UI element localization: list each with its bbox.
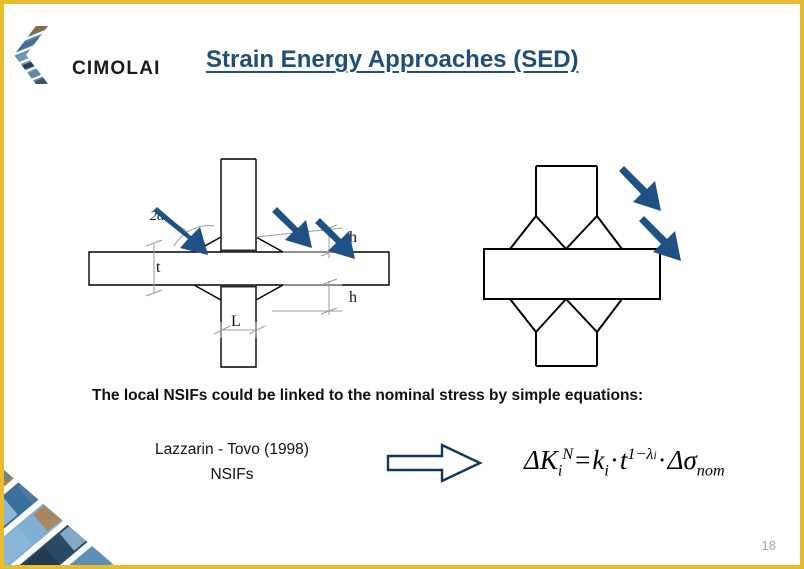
eq-dot-1: · [609, 445, 620, 475]
citation-author: Lazzarin - Tovo (1998) [112, 437, 352, 462]
eq-k: k [592, 445, 604, 475]
nsif-equation: ΔKiN=ki·t1−λi·Δσnom [524, 445, 725, 480]
eq-delta-k: ΔK [524, 445, 558, 475]
eq-delta-sigma: Δσ [668, 445, 697, 475]
eq-t-exponent: 1−λ [627, 445, 653, 463]
label-thickness-t: t [156, 259, 161, 276]
slide-canvas: CIMOLAI Strain Energy Approaches (SED) [0, 0, 804, 569]
page-title: Strain Energy Approaches (SED) [206, 46, 579, 74]
diagram-cruciform-joint-dimensioned: t 2α h h L [84, 154, 414, 379]
load-arrows-right [619, 166, 681, 261]
citation-method: NSIFs [112, 462, 352, 487]
logo-wordmark: CIMOLAI [72, 58, 161, 80]
page-number: 18 [762, 538, 776, 553]
eq-sigma-subscript: nom [697, 461, 725, 479]
label-plate-length-L: L [231, 313, 241, 330]
brand-logo: CIMOLAI [14, 24, 189, 86]
statement-text: The local NSIFs could be linked to the n… [92, 387, 643, 405]
eq-dot-2: · [657, 445, 668, 475]
cimolai-chevron-mark-icon [14, 24, 76, 86]
eq-equals: = [573, 445, 592, 475]
eq-lhs-superscript: N [562, 445, 573, 463]
citation-block: Lazzarin - Tovo (1998) NSIFs [112, 437, 352, 487]
label-weld-leg-bottom-h: h [349, 289, 357, 306]
eq-lhs-subscript: i [558, 461, 563, 479]
diagram-cruciform-joint-vnotch [464, 154, 714, 379]
block-right-arrow-icon [384, 441, 484, 485]
